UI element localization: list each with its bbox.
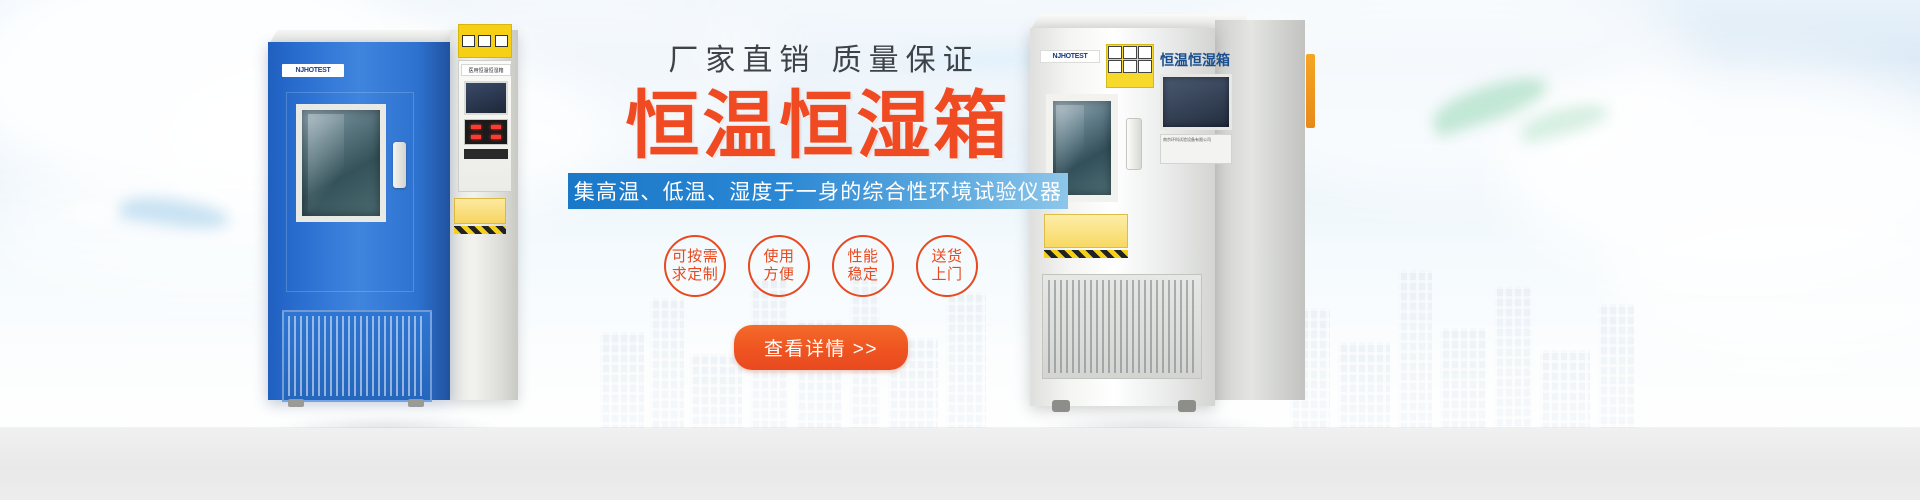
banner-text-block: 厂家直销 质量保证 恒温恒湿箱 集高温、低温、湿度于一身的综合性环境试验仪器 可… (568, 46, 1068, 370)
vent-grille (288, 316, 426, 396)
cta-container: 查看详情 >> (568, 325, 1068, 370)
leaf-accent (119, 192, 232, 233)
panel-led-readout (464, 119, 508, 145)
door-handle (393, 142, 406, 188)
feature-badge-custom[interactable]: 可按需 求定制 (664, 235, 726, 297)
view-details-button[interactable]: 查看详情 >> (734, 325, 908, 370)
feature-badge-easy-use[interactable]: 使用 方便 (748, 235, 810, 297)
feature-badge-list: 可按需 求定制 使用 方便 性能 稳定 送货 上门 (568, 235, 1068, 297)
badge-line-2: 稳定 (847, 266, 878, 284)
banner-tagline: 厂家直销 质量保证 (568, 46, 1068, 76)
badge-line-2: 求定制 (672, 266, 719, 284)
control-panel: 医用恒温恒湿箱 (458, 60, 512, 192)
brand-logo-label: NJHOTEST (282, 64, 344, 77)
viewing-window (296, 104, 386, 222)
badge-line-2: 上门 (931, 266, 962, 284)
touchscreen-controller (1160, 74, 1232, 130)
hazard-stripe (454, 226, 506, 234)
feature-badge-delivery[interactable]: 送货 上门 (916, 235, 978, 297)
city-skyline (1280, 248, 1680, 428)
chamber-caster (1178, 400, 1196, 412)
cloud-decoration (1500, 60, 1920, 280)
warning-sticker (458, 24, 512, 58)
badge-line-1: 可按需 (672, 248, 719, 266)
warning-sticker (1106, 44, 1154, 88)
panel-display (464, 81, 508, 115)
feature-badge-stable[interactable]: 性能 稳定 (832, 235, 894, 297)
leaf-accent (1518, 97, 1612, 144)
vent-grille (1048, 280, 1196, 373)
yellow-caution-label (454, 198, 506, 224)
product-name-label: 恒温恒湿箱 (1160, 50, 1238, 70)
badge-line-1: 性能 (847, 248, 878, 266)
door-handle (1126, 118, 1142, 170)
badge-line-2: 方便 (763, 266, 794, 284)
product-image-right: NJHOTEST 恒温恒湿箱 南京环科试验设备有限公司 (1030, 14, 1305, 406)
product-image-left: NJHOTEST 医用恒温恒湿箱 (268, 30, 518, 400)
badge-line-1: 送货 (931, 248, 962, 266)
orange-accent-bar (1306, 54, 1315, 128)
banner-subtitle-bar: 集高温、低温、湿度于一身的综合性环境试验仪器 (568, 173, 1068, 209)
compressor-base (282, 310, 432, 402)
chamber-foot (408, 399, 424, 407)
bottom-strip (0, 428, 1920, 500)
chamber-caster (1052, 400, 1070, 412)
badge-line-1: 使用 (763, 248, 794, 266)
banner-headline: 恒温恒湿箱 (568, 88, 1068, 163)
promo-banner: NJHOTEST 医用恒温恒湿箱 (0, 0, 1920, 500)
chamber-body: NJHOTEST (268, 42, 450, 400)
chamber-foot (288, 399, 304, 407)
panel-buttons (464, 149, 508, 159)
panel-model-label: 医用恒温恒湿箱 (461, 64, 511, 76)
spec-plate: 南京环科试验设备有限公司 (1160, 134, 1232, 164)
